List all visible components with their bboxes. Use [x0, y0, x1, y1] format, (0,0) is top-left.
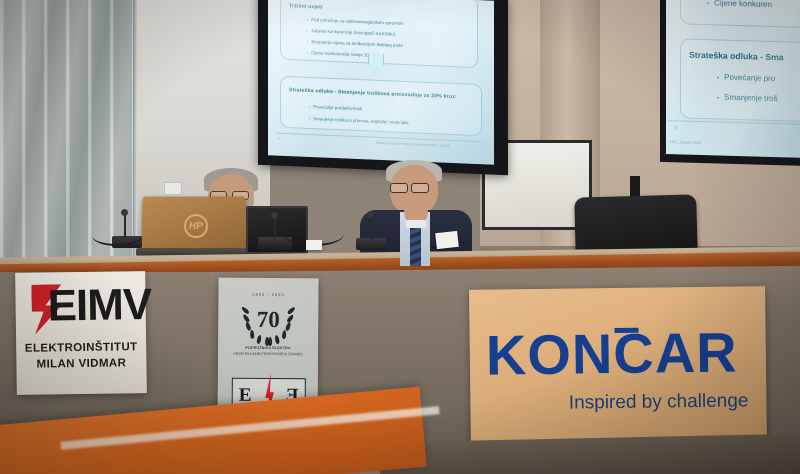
mic-arm — [370, 216, 372, 240]
eimv-logo-icon: EIMV — [31, 283, 132, 334]
screen-glare — [268, 0, 494, 165]
koncar-wordmark: KONCAR — [485, 325, 737, 384]
koncar-caron-accent — [615, 328, 639, 333]
glasses-lens-right — [411, 183, 429, 193]
striped-tie — [410, 222, 421, 266]
anniversary-subtitle-1: PODRUŽNICA ELEKTRA — [218, 346, 318, 351]
eimv-line2: MILAN VIDMAR — [22, 357, 140, 371]
shirt-cuff — [406, 220, 426, 228]
eimv-line1: ELEKTROINŠTITUT — [22, 341, 140, 355]
paper-sheet[interactable] — [435, 231, 459, 249]
mic-head — [271, 212, 278, 219]
eimv-wordmark: EIMV — [47, 283, 151, 328]
laurel-wreath-icon: 70 — [242, 300, 294, 344]
light-switch[interactable] — [164, 182, 182, 195]
side-monitor-glare — [666, 0, 800, 158]
banner-eimv: EIMV ELEKTROINŠTITUT MILAN VIDMAR — [15, 271, 147, 395]
anniversary-years: 1953 - 2023 — [218, 292, 318, 298]
hp-logo-icon: HP — [184, 214, 208, 238]
cable — [92, 226, 142, 246]
mic-head — [121, 209, 128, 216]
conference-room-photo: Tržišni uvjeti Pad potražnje za elektroe… — [0, 0, 800, 474]
side-monitor-screen: Cijene konkuren Strateška odluka - Sma P… — [666, 0, 800, 158]
glasses-lens-left — [390, 183, 408, 193]
koncar-tagline: Inspired by challenge — [569, 390, 749, 414]
projection-screen: Tržišni uvjeti Pad potražnje za elektroe… — [268, 0, 494, 165]
mic-arm — [274, 217, 276, 239]
anniversary-subtitle-2: HRVATSKA ELEKTROPRIVREDA ZAGREB — [218, 352, 318, 357]
mic-head — [367, 211, 374, 218]
banner-koncar: KONCAR Inspired by challenge — [469, 286, 767, 450]
laptop[interactable]: HP — [141, 197, 246, 253]
paper-sheet[interactable] — [306, 240, 322, 250]
